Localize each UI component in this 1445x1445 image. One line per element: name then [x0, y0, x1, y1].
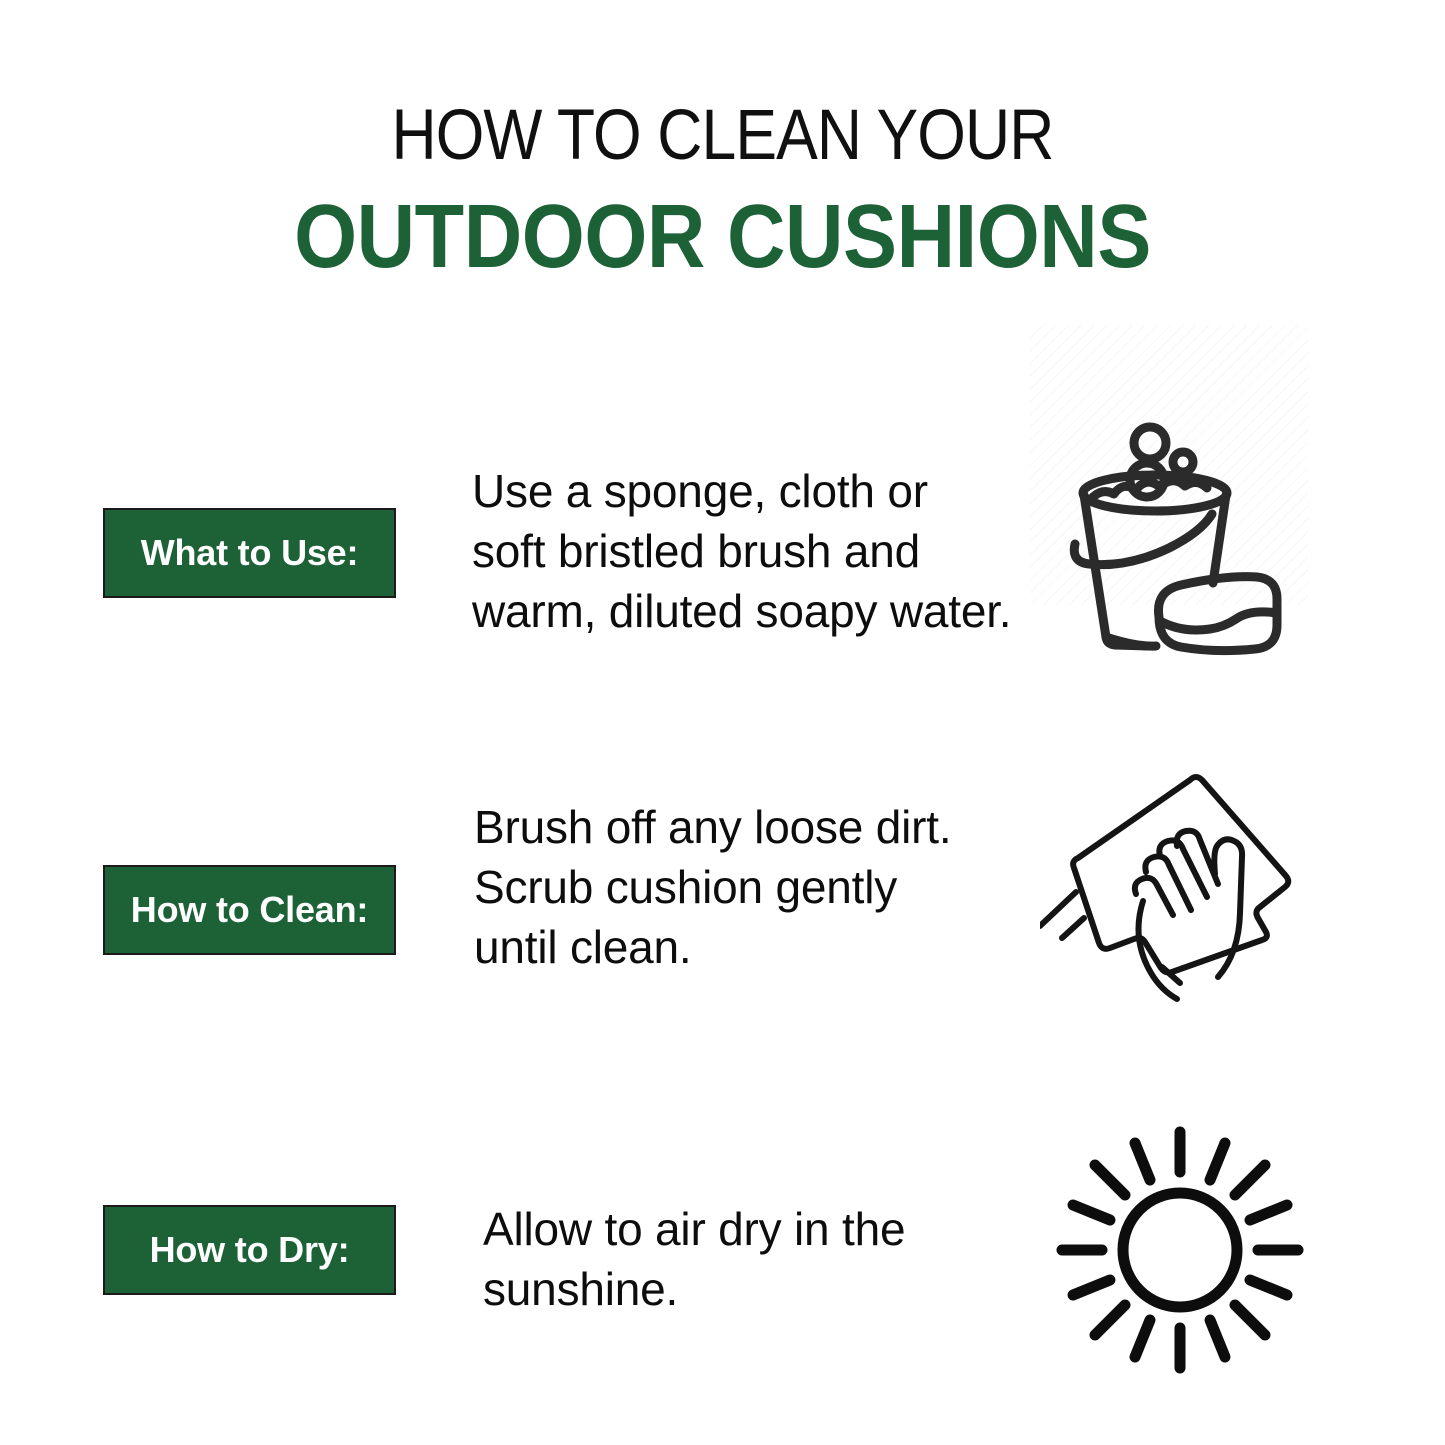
badge-how-to-dry: How to Dry:	[103, 1205, 396, 1295]
badge-what-to-use: What to Use:	[103, 508, 396, 598]
hand-wiping-cloth-icon	[1040, 762, 1320, 1042]
section-how-to-dry: How to Dry: Allow to air dry in the suns…	[0, 1100, 1445, 1400]
section-how-to-clean: How to Clean: Brush off any loose dirt. …	[0, 760, 1445, 1060]
bucket-sponge-icon	[1027, 405, 1307, 685]
infographic-page: HOW TO CLEAN YOUR OUTDOOR CUSHIONS What …	[0, 0, 1445, 1445]
section-what-to-use: What to Use: Use a sponge, cloth or soft…	[0, 400, 1445, 700]
body-text-how-to-clean: Brush off any loose dirt. Scrub cushion …	[474, 798, 1034, 977]
page-title-line-2: OUTDOOR CUSHIONS	[72, 192, 1373, 282]
page-title-line-1: HOW TO CLEAN YOUR	[87, 100, 1359, 171]
body-text-how-to-dry: Allow to air dry in the sunshine.	[483, 1200, 1043, 1320]
body-text-what-to-use: Use a sponge, cloth or soft bristled bru…	[472, 462, 1032, 641]
badge-how-to-clean: How to Clean:	[103, 865, 396, 955]
sun-icon	[1040, 1110, 1320, 1390]
